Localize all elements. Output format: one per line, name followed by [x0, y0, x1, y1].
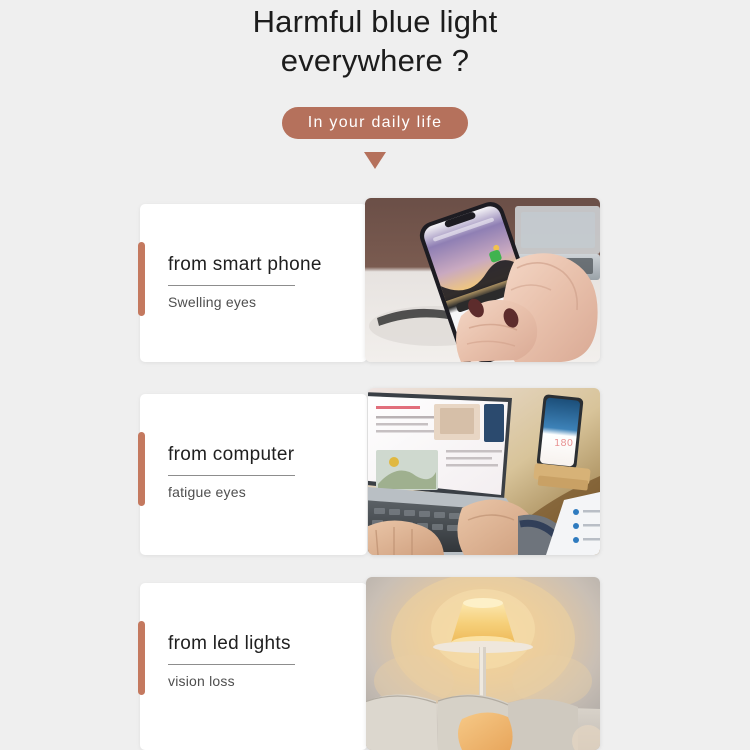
page-title-line-2: everywhere ?	[0, 41, 750, 80]
card-accent-bar	[138, 621, 145, 695]
card-title: from computer	[168, 443, 348, 467]
badge-section: In your daily life	[0, 107, 750, 139]
list-item[interactable]: from computer fatigue eyes	[138, 388, 600, 555]
card-text-block: from smart phone Swelling eyes	[168, 253, 348, 311]
page-title: Harmful blue light everywhere ?	[0, 0, 750, 80]
card-accent-bar	[138, 242, 145, 316]
card-divider	[168, 475, 295, 476]
card-title: from led lights	[168, 632, 348, 656]
hands-typing-on-laptop-photo: 180	[368, 388, 600, 555]
page-title-line-1: Harmful blue light	[0, 2, 750, 41]
floor-lamp-over-sofa-photo	[366, 577, 600, 750]
svg-text:180: 180	[554, 438, 573, 449]
triangle-down-icon	[364, 152, 386, 169]
card-subtitle: Swelling eyes	[168, 293, 348, 311]
card-subtitle: fatigue eyes	[168, 483, 348, 501]
list-item[interactable]: from led lights vision loss	[138, 577, 600, 750]
card-divider	[168, 285, 295, 286]
list-item[interactable]: from smart phone Swelling eyes	[138, 198, 600, 362]
card-title: from smart phone	[168, 253, 348, 277]
card-divider	[168, 664, 295, 665]
card-accent-bar	[138, 432, 145, 506]
hands-holding-smartphone-photo	[365, 198, 600, 362]
card-text-block: from computer fatigue eyes	[168, 443, 348, 501]
status-badge: In your daily life	[282, 107, 469, 139]
badge-arrow-container	[0, 152, 750, 172]
card-subtitle: vision loss	[168, 672, 348, 690]
card-text-block: from led lights vision loss	[168, 632, 348, 690]
